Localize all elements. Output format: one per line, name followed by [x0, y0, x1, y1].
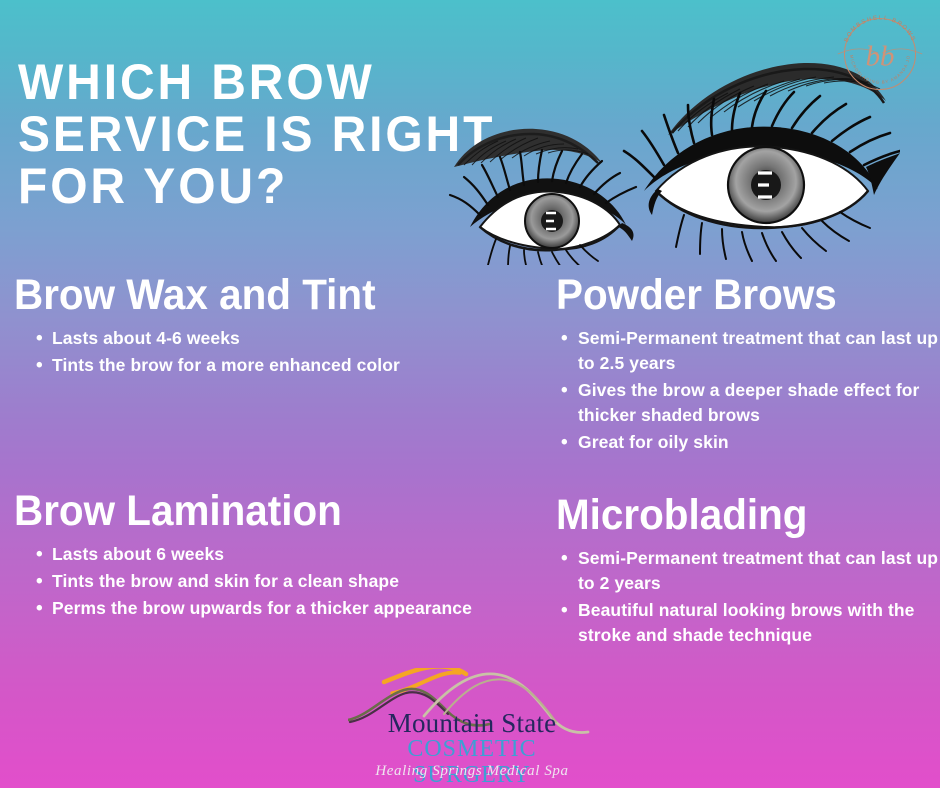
list-item: Semi-Permanent treatment that can last u…: [556, 546, 940, 596]
section-brow-lamination: Brow Lamination Lasts about 6 weeks Tint…: [14, 488, 514, 623]
section-bullet-list: Lasts about 6 weeks Tints the brow and s…: [14, 542, 514, 621]
badge-top-text: BOMBSHELL BROWS: [844, 15, 917, 43]
list-item: Great for oily skin: [556, 430, 940, 455]
section-heading: Brow Lamination: [14, 488, 484, 534]
list-item: Semi-Permanent treatment that can last u…: [556, 326, 940, 376]
section-bullet-list: Semi-Permanent treatment that can last u…: [556, 546, 940, 648]
mountain-state-logo: Mountain State COSMETIC SURGERY Healing …: [348, 668, 596, 786]
title-line-3: For You?: [18, 160, 594, 212]
logo-line-3: Healing Springs Medical Spa: [348, 762, 596, 780]
title-line-1: Which Brow: [18, 56, 594, 108]
section-heading: Powder Brows: [556, 272, 917, 318]
infographic-poster: Which Brow Service is Right For You?: [0, 0, 940, 788]
section-powder-brows: Powder Brows Semi-Permanent treatment th…: [556, 272, 940, 457]
section-heading: Brow Wax and Tint: [14, 272, 484, 318]
section-brow-wax-and-tint: Brow Wax and Tint Lasts about 4-6 weeks …: [14, 272, 514, 380]
list-item: Beautiful natural looking brows with the…: [556, 598, 940, 648]
list-item: Perms the brow upwards for a thicker app…: [14, 596, 514, 621]
bombshell-brows-badge: BOMBSHELL BROWS MICROBLADING BY AMANDA J…: [832, 6, 928, 102]
list-item: Lasts about 4-6 weeks: [14, 326, 514, 351]
section-heading: Microblading: [556, 492, 917, 538]
page-title: Which Brow Service is Right For You?: [18, 56, 594, 212]
list-item: Tints the brow and skin for a clean shap…: [14, 569, 514, 594]
list-item: Tints the brow for a more enhanced color: [14, 353, 514, 378]
list-item: Gives the brow a deeper shade effect for…: [556, 378, 940, 428]
badge-monogram: bb: [866, 41, 895, 73]
logo-line-1: Mountain State: [348, 708, 596, 738]
title-line-2: Service is Right: [18, 108, 594, 160]
section-bullet-list: Lasts about 4-6 weeks Tints the brow for…: [14, 326, 514, 378]
section-microblading: Microblading Semi-Permanent treatment th…: [556, 492, 940, 650]
list-item: Lasts about 6 weeks: [14, 542, 514, 567]
section-bullet-list: Semi-Permanent treatment that can last u…: [556, 326, 940, 455]
